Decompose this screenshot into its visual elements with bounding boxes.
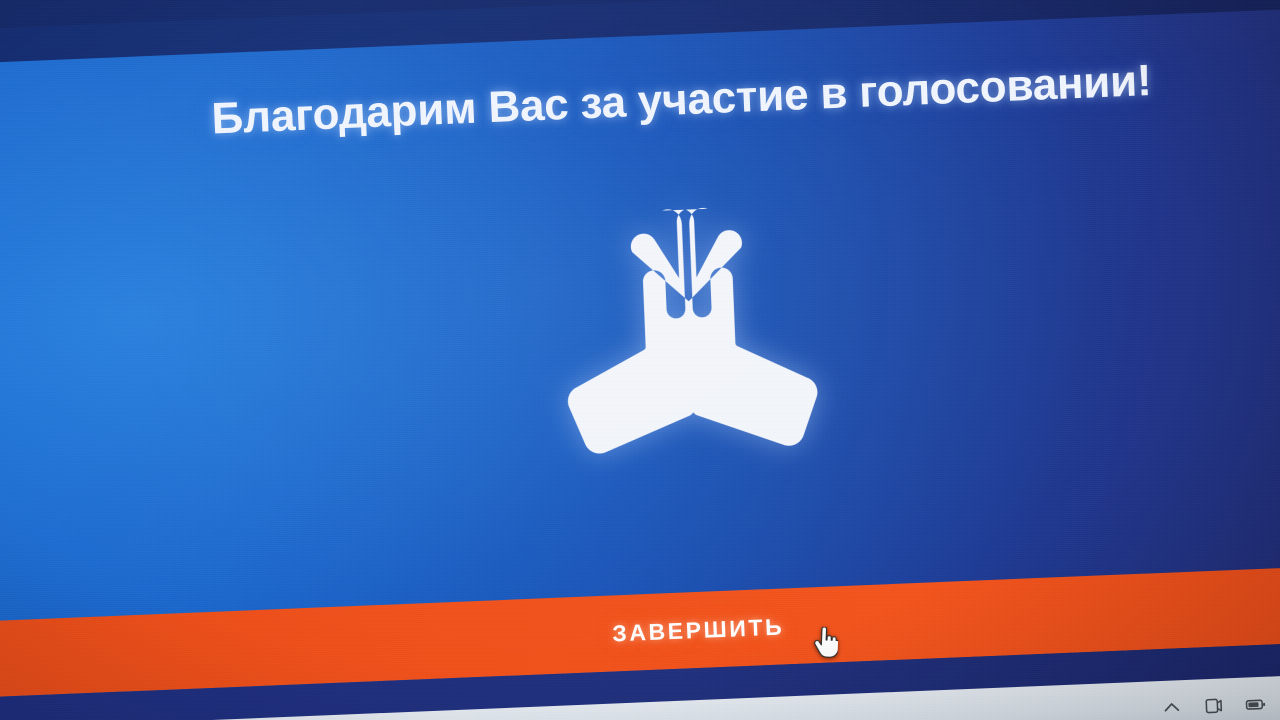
screen-surface: Благодарим Вас за участие в голосовании!… (0, 0, 1280, 720)
gratitude-illustration (0, 168, 1280, 493)
photo-of-laptop-screen: Благодарим Вас за участие в голосовании!… (0, 0, 1280, 720)
show-hidden-icons-chevron-up-icon[interactable] (1160, 696, 1183, 719)
battery-icon[interactable] (1244, 693, 1267, 716)
finish-button-label: ЗАВЕРШИТЬ (612, 613, 785, 647)
onedrive-icon[interactable] (1202, 694, 1225, 717)
praying-hands-icon (535, 190, 846, 470)
